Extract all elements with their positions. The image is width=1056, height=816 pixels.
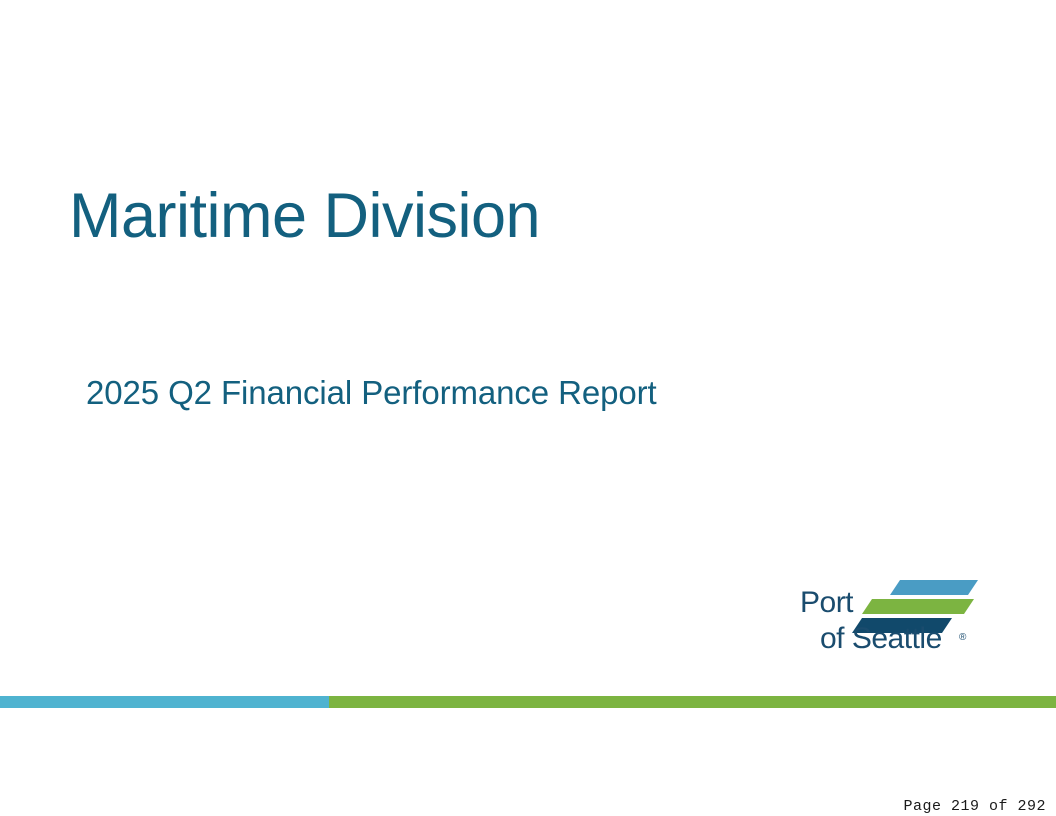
logo-wordmark-line1: Port xyxy=(800,586,854,619)
page-subtitle: 2025 Q2 Financial Performance Report xyxy=(86,375,657,411)
port-of-seattle-logo: Port of Seattle ® xyxy=(800,578,980,658)
page-number-footer: Page 219 of 292 xyxy=(0,798,1046,815)
logo-wordmark-line2: of Seattle xyxy=(820,622,942,655)
slide-canvas: Maritime Division 2025 Q2 Financial Perf… xyxy=(0,0,1056,816)
accent-bar-green-segment xyxy=(329,696,1056,708)
logo-registered-mark: ® xyxy=(959,632,967,643)
logo-swoosh-middle xyxy=(862,599,974,614)
bottom-accent-bar xyxy=(0,696,1056,708)
logo-swoosh-top xyxy=(890,580,978,595)
page-title: Maritime Division xyxy=(69,183,540,249)
accent-bar-blue-segment xyxy=(0,696,329,708)
port-of-seattle-logo-icon: Port of Seattle ® xyxy=(800,578,980,658)
